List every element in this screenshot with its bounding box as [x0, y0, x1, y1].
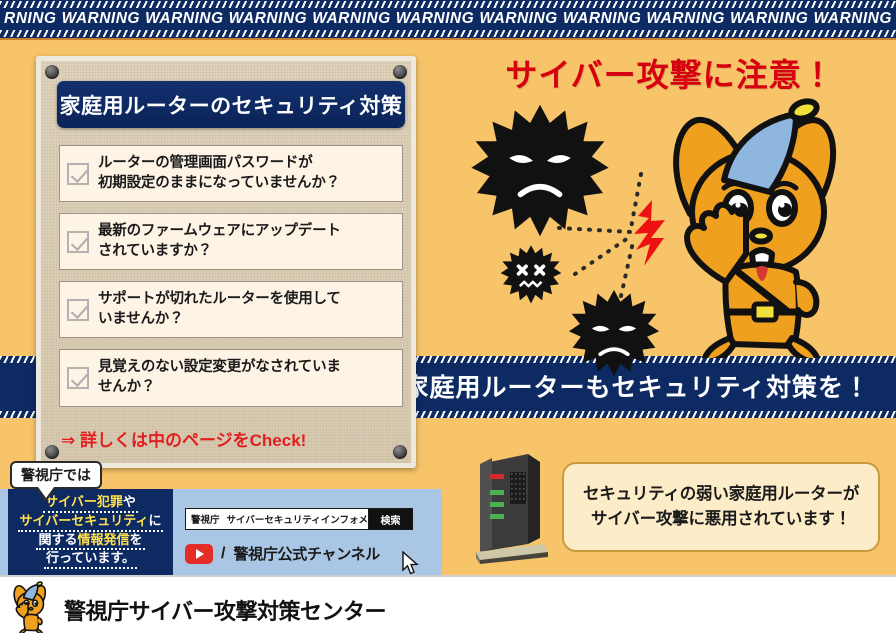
- youtube-play-icon[interactable]: [185, 544, 213, 564]
- checklist-line-2: いませんか？: [98, 311, 183, 327]
- banner-divider-rule: [0, 38, 896, 40]
- bubble-tab-label: 警視庁では: [10, 461, 102, 489]
- youtube-slash: /: [221, 545, 225, 563]
- mouse-cursor-icon: [401, 551, 421, 582]
- info-text-plain: を: [130, 532, 143, 547]
- checklist-line-1: ルーターの管理画面パスワードが: [98, 155, 313, 171]
- warning-word: WARNING: [229, 9, 307, 29]
- board-title: 家庭用ルーターのセキュリティ対策: [57, 81, 405, 128]
- checklist-board: 家庭用ルーターのセキュリティ対策 ルーターの管理画面パスワードが初期設定のままに…: [36, 56, 416, 468]
- warning-word: WARNING: [563, 9, 641, 29]
- checklist-item-text: 最新のファームウェアにアップデートされていますか？: [98, 222, 341, 261]
- footer-mascot-icon: [8, 581, 54, 635]
- checklist-item[interactable]: サポートが切れたルーターを使用していませんか？: [59, 281, 403, 338]
- search-widget: 警視庁 サイバーセキュリティインフォメーション 検索 / 警視庁公式チャンネル: [185, 508, 413, 564]
- checklist-item[interactable]: ルーターの管理画面パスワードが初期設定のままになっていませんか？: [59, 145, 403, 202]
- warning-word: WARNING: [62, 9, 140, 29]
- page-headline: サイバー攻撃に注意！: [452, 50, 888, 96]
- checklist-line-1: 最新のファームウェアにアップデート: [98, 223, 341, 239]
- checklist-item[interactable]: 最新のファームウェアにアップデートされていますか？: [59, 213, 403, 270]
- warning-word: WARNING: [730, 9, 808, 29]
- info-text-highlight: サイバー犯罪: [45, 494, 123, 509]
- info-text-plain: や: [123, 494, 136, 509]
- checkbox-icon[interactable]: [67, 231, 89, 253]
- board-footer-note[interactable]: ⇒ 詳しくは中のページをCheck!: [61, 426, 306, 451]
- warning-word: WARNING: [646, 9, 724, 29]
- checkbox-icon[interactable]: [67, 299, 89, 321]
- screw-top-left-icon: [45, 65, 59, 79]
- poster-root: RNINGWARNINGWARNINGWARNINGWARNINGWARNING…: [0, 0, 896, 635]
- checkbox-icon[interactable]: [67, 367, 89, 389]
- screw-bottom-left-icon: [45, 445, 59, 459]
- warning-word: WARNING: [312, 9, 390, 29]
- search-keyword-term: サイバーセキュリティインフォメーション: [227, 512, 368, 526]
- warning-word: WARNING: [396, 9, 474, 29]
- info-text-plain: 行っています。: [46, 550, 135, 565]
- info-statement-line: サイバーセキュリティに: [18, 514, 164, 532]
- warning-word: RNING: [4, 9, 56, 29]
- search-input[interactable]: 警視庁 サイバーセキュリティインフォメーション: [186, 509, 368, 529]
- search-agency-term: 警視庁: [191, 512, 220, 526]
- info-statement-box: サイバー犯罪やサイバーセキュリティに関する情報発信を行っています。: [8, 489, 173, 575]
- info-text-highlight: 情報発信: [77, 532, 129, 547]
- checklist-item-text: ルーターの管理画面パスワードが初期設定のままになっていませんか？: [98, 154, 340, 193]
- footer-title: 警視庁サイバー攻撃対策センター: [64, 594, 386, 626]
- footer-bar: 警視庁サイバー攻撃対策センター 150 MPD 警視庁創立150年 警視庁 サイ…: [0, 575, 896, 635]
- info-statement-line: 行っています。: [44, 551, 137, 569]
- hatch-stripe-top: [0, 1, 896, 8]
- checklist-line-2: せんか？: [98, 379, 155, 395]
- youtube-row[interactable]: / 警視庁公式チャンネル: [185, 543, 413, 564]
- checklist-line-1: 見覚えのない設定変更がなされていま: [98, 359, 341, 375]
- checklist-item[interactable]: 見覚えのない設定変更がなされていませんか？: [59, 349, 403, 406]
- warning-word: WARNING: [479, 9, 557, 29]
- footer-brand: 警視庁サイバー攻撃対策センター: [8, 581, 386, 635]
- hatch-stripe-bottom: [0, 30, 896, 37]
- msg-line-2: サイバー攻撃に悪用されています！: [591, 510, 851, 528]
- checklist-line-2: されていますか？: [98, 243, 212, 259]
- warning-word: WARNING: [814, 9, 892, 29]
- router-risk-message-box: セキュリティの弱い家庭用ルーターが サイバー攻撃に悪用されています！: [562, 462, 880, 552]
- checklist: ルーターの管理画面パスワードが初期設定のままになっていませんか？最新のファームウ…: [59, 145, 403, 407]
- info-text-highlight: サイバーセキュリティ: [20, 513, 149, 528]
- warning-text-row: RNINGWARNINGWARNINGWARNINGWARNINGWARNING…: [0, 9, 896, 29]
- msg-line-1: セキュリティの弱い家庭用ルーターが: [583, 485, 859, 503]
- search-button[interactable]: 検索: [368, 509, 412, 529]
- youtube-channel-label[interactable]: 警視庁公式チャンネル: [233, 543, 380, 564]
- screw-top-right-icon: [393, 65, 407, 79]
- info-statement-line: 関する情報発信を: [36, 533, 144, 551]
- checklist-line-2: 初期設定のままになっていませんか？: [98, 175, 340, 191]
- checkbox-icon[interactable]: [67, 163, 89, 185]
- info-statement-line: サイバー犯罪や: [43, 495, 138, 513]
- screw-bottom-right-icon: [393, 445, 407, 459]
- top-warning-banner: RNINGWARNINGWARNINGWARNINGWARNINGWARNING…: [0, 0, 896, 38]
- search-box[interactable]: 警視庁 サイバーセキュリティインフォメーション 検索: [185, 508, 413, 530]
- checklist-item-text: サポートが切れたルーターを使用していませんか？: [98, 290, 341, 329]
- router-icon: [466, 448, 552, 569]
- warning-word: WARNING: [145, 9, 223, 29]
- checklist-item-text: 見覚えのない設定変更がなされていませんか？: [98, 358, 341, 397]
- info-text-plain: に: [148, 513, 161, 528]
- checklist-line-1: サポートが切れたルーターを使用して: [98, 291, 341, 307]
- pipo-kun-mascot-icon: [646, 96, 876, 363]
- info-text-plain: 関する: [38, 532, 77, 547]
